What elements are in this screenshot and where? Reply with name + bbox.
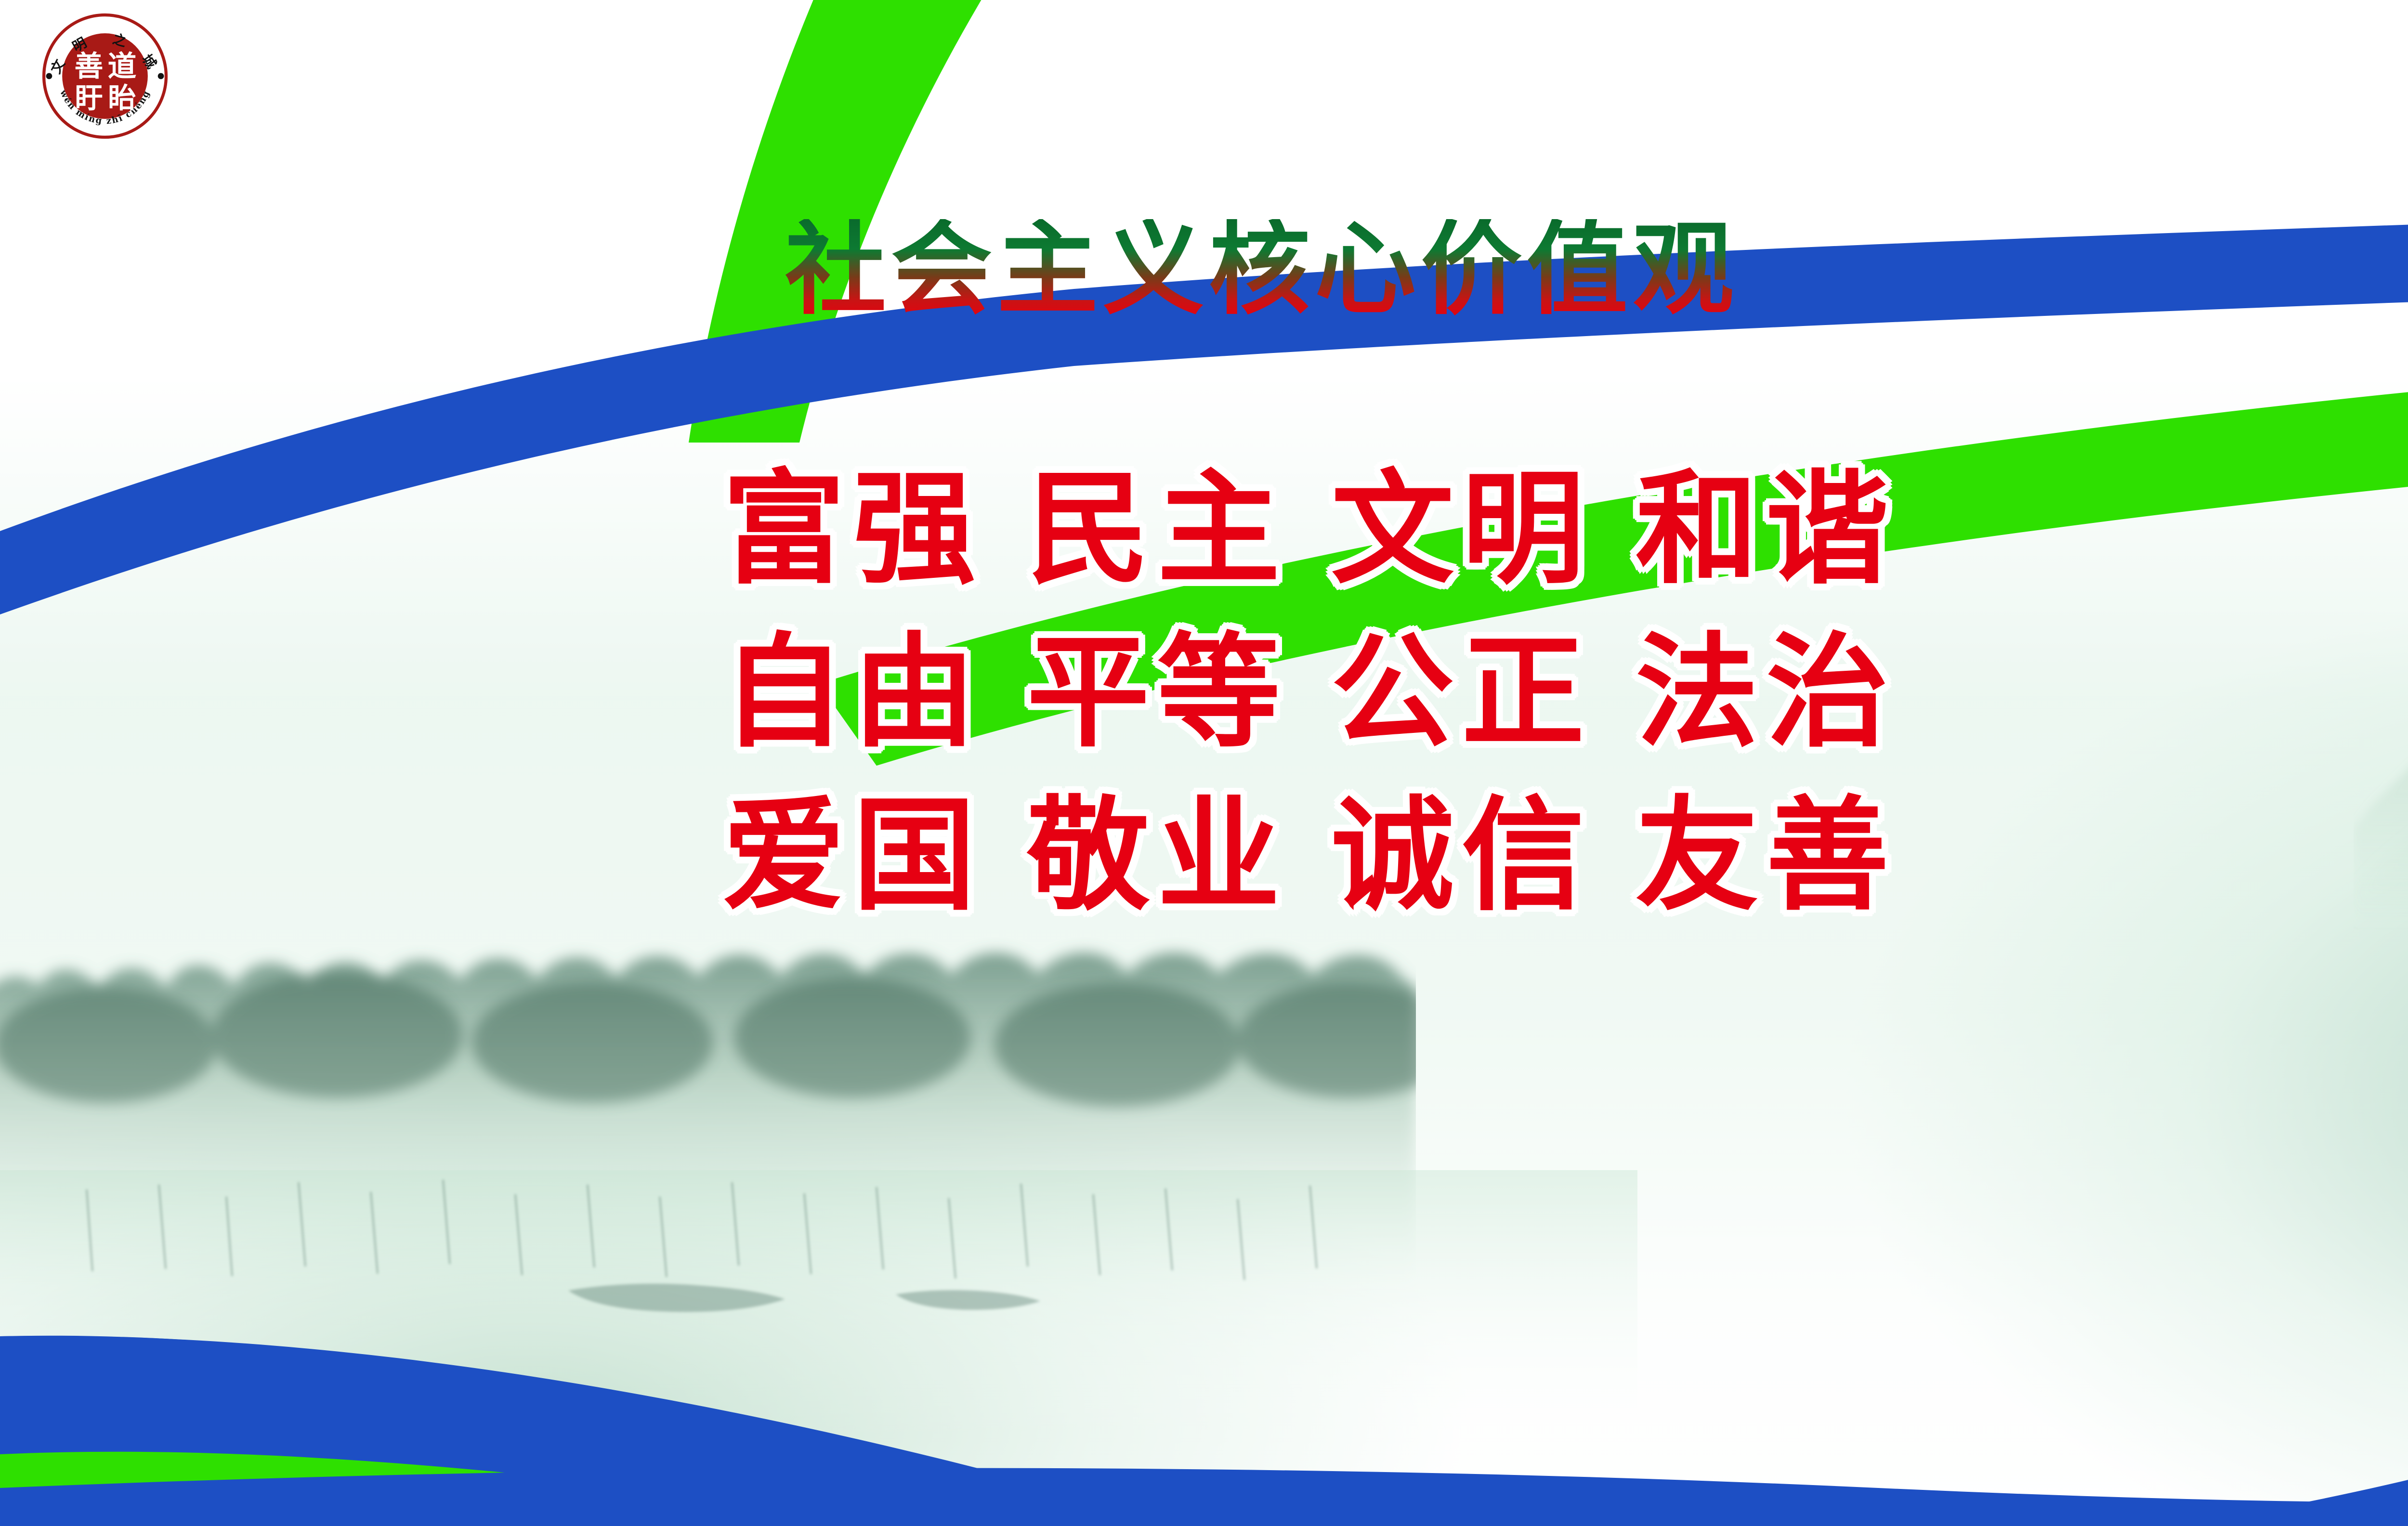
core-value-word: 爱国 [722, 784, 983, 927]
core-value-word: 法治 [1636, 621, 1897, 764]
core-value-word: 诚信 [1331, 784, 1592, 927]
core-values-line-1: 富强民主文明和谐 [722, 448, 2408, 611]
core-values-line-3: 爱国敬业诚信友善 [722, 774, 2408, 938]
logo-center-char-3: 眙 [108, 81, 136, 114]
core-value-word: 和谐 [1636, 458, 1897, 601]
page-title: 社会主义核心价值观 [785, 219, 2408, 320]
logo-dot-left [46, 73, 52, 79]
logo-center-char-2: 盱 [75, 81, 103, 114]
core-values-list: 富强民主文明和谐 自由平等公正法治 爱国敬业诚信友善 [722, 448, 2408, 938]
wenming-zhicheng-logo[interactable]: 文 明 之 城 wén míng zhī chéng 善 道 盱 眙 [39, 11, 170, 142]
core-value-word: 公正 [1331, 621, 1592, 764]
logo-center-char-0: 善 [75, 50, 104, 83]
core-value-word: 敬业 [1027, 784, 1288, 927]
core-value-word: 富强 [722, 458, 983, 601]
core-value-word: 民主 [1027, 458, 1288, 601]
core-value-word: 友善 [1636, 784, 1897, 927]
socialist-core-values-banner: 文 明 之 城 wén míng zhī chéng 善 道 盱 眙 社会主义核… [0, 0, 2408, 1526]
logo-dot-right [158, 73, 164, 79]
core-values-line-2: 自由平等公正法治 [722, 611, 2408, 774]
ribbon-blue-bottom-right-tail [0, 1468, 2408, 1526]
core-value-word: 自由 [722, 621, 983, 764]
core-value-word: 平等 [1027, 621, 1288, 764]
logo-center-char-1: 道 [107, 50, 136, 83]
ribbon-blue-bottom-right-thick [2167, 910, 2408, 1526]
core-value-word: 文明 [1331, 458, 1592, 601]
